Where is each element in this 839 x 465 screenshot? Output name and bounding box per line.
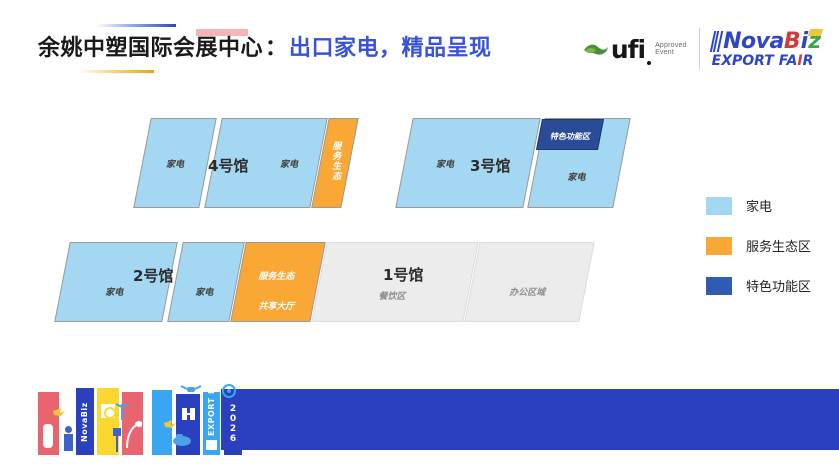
- novabiz-export-fa: EXPORT FA: [712, 54, 798, 68]
- legend-item-appliance: 家电: [706, 196, 811, 215]
- hall2-zone-c[interactable]: 服务生态 共享大厅: [230, 242, 326, 322]
- slide-canvas: 余姚中塑国际会展中心 ： 出口家电，精品呈现 ufi Approved Even…: [0, 0, 839, 465]
- footer-antenna-icon: [114, 402, 130, 422]
- novabiz-flag-icon: [808, 29, 824, 36]
- footer-blue-block: [221, 389, 839, 450]
- footer-bird-icon: [52, 406, 66, 418]
- hall3-zone-a-label: 家电: [436, 154, 454, 172]
- footer-badge-icon: [222, 384, 236, 398]
- footer-fridge-icon: [182, 408, 196, 420]
- footer-fair-label: EXPORT FAIR: [207, 396, 216, 436]
- footer-brand-label: NovaBiz: [80, 396, 89, 442]
- footer-iron-icon: [43, 424, 53, 448]
- legend-swatch-service: [706, 237, 732, 255]
- novabiz-bars-icon: [712, 31, 723, 52]
- floor-plan: 家电 家电 服务生态 4号馆 家电 家电 特色功能: [0, 0, 700, 360]
- hall2-zone-c-label: 服务生态 共享大厅: [258, 260, 294, 321]
- footer-lamp-icon: [124, 420, 142, 450]
- hall4-zone-c-label: 服务生态: [330, 141, 340, 186]
- hall4-zone-a-label: 家电: [166, 154, 184, 172]
- novabiz-wordmark-row: Nova B i z: [712, 31, 821, 53]
- footer-bird-icon-2: [163, 418, 177, 430]
- legend: 家电 服务生态区 特色功能区: [706, 196, 811, 316]
- legend-label-service: 服务生态区: [746, 236, 811, 255]
- hall3-zone-c[interactable]: 特色功能区: [536, 119, 604, 150]
- hall2-zone-b-label: 家电: [195, 282, 213, 300]
- hall2-zone-a-label: 家电: [105, 282, 123, 300]
- hall1-zone-b[interactable]: 办公区域: [464, 242, 595, 322]
- footer-person-icon: [64, 426, 73, 452]
- hall3-zone-c-label: 特色功能区: [550, 126, 590, 144]
- legend-label-feature: 特色功能区: [746, 276, 811, 295]
- legend-swatch-feature: [706, 277, 732, 295]
- novabiz-subtitle-row: EXPORT FA I R: [712, 54, 814, 68]
- footer-stand-icon: [113, 428, 121, 452]
- footer-vacuum-icon: [172, 432, 192, 446]
- hall4-zone-a[interactable]: 家电: [133, 118, 216, 208]
- hall1-zone-a-label: 餐饮区: [379, 286, 406, 304]
- footer-year-label: 2026: [228, 404, 238, 444]
- hall1-name: 1号馆: [383, 264, 423, 285]
- novabiz-b: B: [784, 31, 801, 53]
- novabiz-r: R: [803, 54, 814, 68]
- novabiz-nova: Nova: [723, 31, 784, 53]
- hall2-name: 2号馆: [133, 265, 173, 286]
- novabiz-logo: Nova B i z EXPORT FA I R: [712, 31, 821, 68]
- hall1-zone-b-label: 办公区域: [510, 282, 546, 300]
- footer-drone-icon: [180, 384, 202, 394]
- hall4-name: 4号馆: [208, 155, 248, 176]
- footer-qr-icon: [206, 440, 217, 450]
- hall4-zone-b-label: 家电: [280, 154, 298, 172]
- legend-label-appliance: 家电: [746, 196, 772, 215]
- hall3-name: 3号馆: [470, 155, 510, 176]
- legend-item-feature: 特色功能区: [706, 276, 811, 295]
- footer-decoration: NovaBiz: [0, 376, 839, 465]
- hall3-zone-a[interactable]: 家电: [395, 118, 540, 208]
- legend-item-service: 服务生态区: [706, 236, 811, 255]
- legend-swatch-appliance: [706, 197, 732, 215]
- hall3-zone-b-label: 家电: [567, 167, 585, 185]
